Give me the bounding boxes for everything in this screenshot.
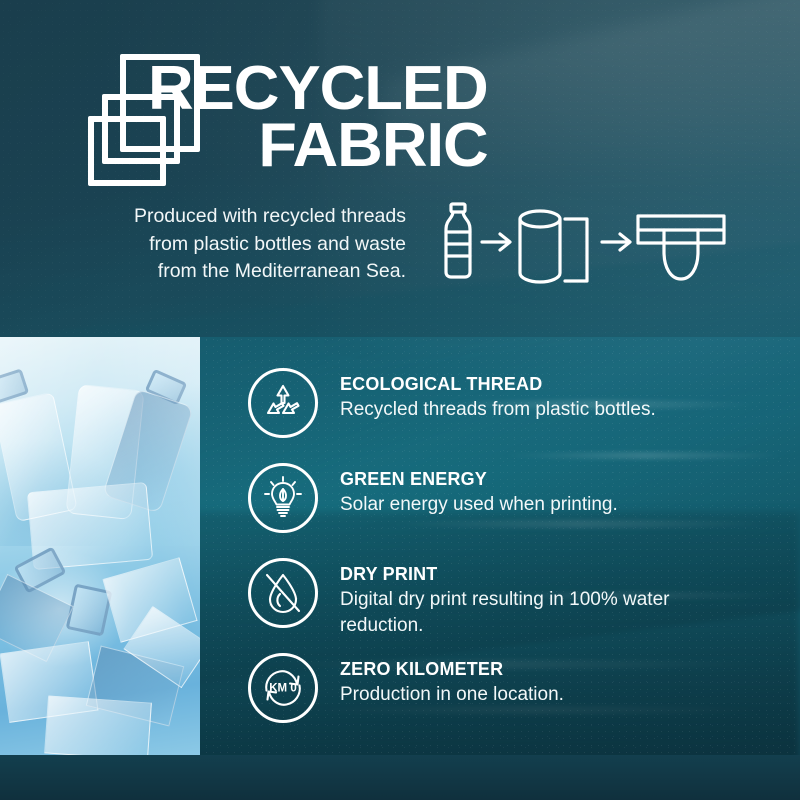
feature-title: GREEN ENERGY [340,469,609,489]
feature-title: DRY PRINT [340,564,728,584]
feature-title: ECOLOGICAL THREAD [340,374,646,394]
feature-title: ZERO KILOMETER [340,659,557,679]
process-diagram [432,196,732,304]
feature-description: Digital dry print resulting in 100% wate… [340,587,740,638]
hero-subtitle: Produced with recycled threads from plas… [58,203,406,286]
km-zero-label: KM 0 [269,683,296,695]
photo-layers [0,337,200,755]
photo-gloss [0,337,200,755]
feature-description: Production in one location. [340,682,564,707]
plastic-bottle-icon [446,204,470,277]
subtitle-line: from the Mediterranean Sea. [58,258,406,286]
infographic-canvas: RECYCLED FABRIC Produced with recycled t… [0,0,800,800]
page-title: RECYCLED FABRIC [148,60,481,174]
feature-text: ZERO KILOMETER Production in one locatio… [340,653,564,708]
km-zero-cycle-icon: KM 0 [248,653,318,723]
arrow-right-icon [602,234,630,250]
feature-text: GREEN ENERGY Solar energy used when prin… [340,463,618,518]
feature-text: DRY PRINT Digital dry print resulting in… [340,558,740,638]
hero-section: RECYCLED FABRIC Produced with recycled t… [0,0,800,337]
fabric-roll-icon [520,211,587,282]
title-line-1: RECYCLED [148,60,488,117]
feature-list: ECOLOGICAL THREAD Recycled threads from … [200,337,800,755]
feature-row-dry-print: DRY PRINT Digital dry print resulting in… [248,558,800,636]
feature-row-green-energy: GREEN ENERGY Solar energy used when prin… [248,463,800,541]
recycle-arrows-icon [248,368,318,438]
arrow-right-icon [482,234,510,250]
subtitle-line: Produced with recycled threads [58,203,406,231]
title-line-2: FABRIC [148,117,488,174]
feature-description: Recycled threads from plastic bottles. [340,397,656,422]
feature-description: Solar energy used when printing. [340,492,618,517]
feature-row-ecological-thread: ECOLOGICAL THREAD Recycled threads from … [248,368,800,446]
feature-row-zero-kilometer: KM 0 ZERO KILOMETER Production in one lo… [248,653,800,731]
subtitle-line: from plastic bottles and waste [58,231,406,259]
crushed-plastic-bottles-photo [0,337,200,755]
feature-text: ECOLOGICAL THREAD Recycled threads from … [340,368,656,423]
lightbulb-leaf-icon [248,463,318,533]
no-water-droplet-icon [248,558,318,628]
swimwear-garment-icon [638,216,724,279]
bottom-band [0,755,800,800]
